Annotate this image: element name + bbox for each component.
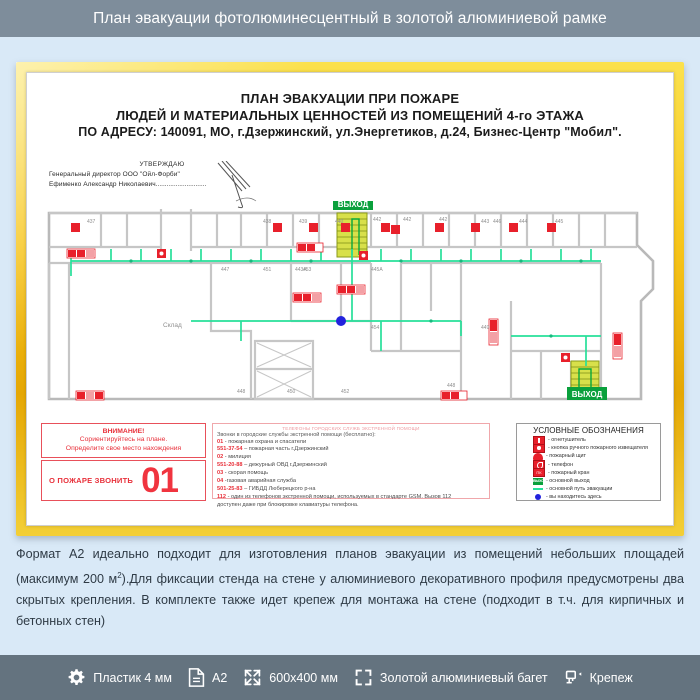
legend-item: ПК - пожарный кран [533, 469, 656, 477]
emergency-phones-box: ТЕЛЕФОНЫ ГОРОДСКИХ СЛУЖБ ЭКСТРЕННОЙ ПОМО… [212, 423, 490, 499]
route-arrows [129, 259, 582, 337]
spec-material: Пластик 4 мм [67, 668, 172, 687]
svg-text:445A: 445A [371, 267, 383, 273]
svg-text:439: 439 [299, 219, 308, 225]
legend-item: - вы находитесь здесь [533, 493, 656, 501]
spec-frame: Золотой алюминиевый багет [354, 668, 548, 687]
floor-plan-drawing: ВЫХОД ВЫХОД 437438439 440442442 44244344… [41, 201, 661, 416]
approval-dots: ............................ [156, 181, 207, 188]
legend-item: - пожарный щит [533, 452, 656, 460]
phone-item: 551-20-88 – дежурный ОВД г.Дзержинский [217, 462, 485, 470]
phone-last-line: доступен даже при блокировке клавиатуры … [217, 502, 485, 510]
exit-sign-south: ВЫХОД [567, 387, 607, 400]
phone-item: 501-25-83 – ГИБДД Люберецкого р-на [217, 486, 485, 494]
phone-desc: - скорая помощь [223, 470, 268, 476]
phone-desc: – дежурный ОВД г.Дзержинский [243, 462, 327, 468]
svg-text:442: 442 [439, 217, 448, 223]
svg-text:ВЫХОД: ВЫХОД [338, 201, 369, 209]
plan-heading-line3: ПО АДРЕСУ: 140091, МО, г.Дзержинский, ул… [27, 125, 673, 139]
phone-number: 551-20-88 [217, 462, 243, 468]
phone-desc: – пожарная часть г.Дзержинский [243, 446, 329, 452]
legend-label: - кнопка ручного пожарного извещателя [548, 445, 648, 451]
emergency-phones-subtitle: Звонки в городские службы экстренной пом… [217, 432, 485, 438]
product-description: Формат А2 идеально подходит для изготовл… [16, 544, 684, 632]
legend-item: - огнетушитель [533, 436, 656, 444]
storage-room-label: Склад [163, 322, 182, 329]
legend-label: - основной выход [546, 478, 590, 484]
legend-label: - пожарный кран [548, 470, 589, 476]
svg-text:440: 440 [335, 219, 344, 225]
attention-line2: Сориентируйтесь на плане. [42, 436, 205, 444]
phone-desc: - пожарная охрана и спасатели [223, 439, 306, 445]
plan-heading-line1: ПЛАН ЭВАКУАЦИИ ПРИ ПОЖАРЕ [27, 91, 673, 106]
svg-text:454: 454 [371, 325, 380, 331]
fire-call-label: О ПОЖАРЕ ЗВОНИТЬ [49, 476, 133, 485]
plan-info-row: ВНИМАНИЕ! Сориентируйтесь на плане. Опре… [41, 423, 661, 513]
svg-text:444: 444 [519, 219, 528, 225]
legend-label: - телефон [548, 462, 573, 468]
exit-sign-north: ВЫХОД [333, 201, 373, 210]
attention-box: ВНИМАНИЕ! Сориентируйтесь на плане. Опре… [41, 423, 206, 458]
svg-text:449: 449 [481, 325, 490, 331]
legend-box: УСЛОВНЫЕ ОБОЗНАЧЕНИЯ - огнетушитель - кн… [516, 423, 661, 501]
emergency-phones-title: ТЕЛЕФОНЫ ГОРОДСКИХ СЛУЖБ ЭКСТРЕННОЙ ПОМО… [217, 426, 485, 431]
svg-text:442: 442 [403, 217, 412, 223]
specs-footer: Пластик 4 мм A2 600х400 мм [0, 655, 700, 700]
legend-label: - огнетушитель [548, 437, 586, 443]
evacuation-route-icon [533, 486, 543, 493]
svg-text:452: 452 [341, 389, 350, 395]
spec-label: 600х400 мм [269, 671, 338, 685]
drill-icon [564, 668, 583, 687]
you-are-here-marker [336, 316, 346, 326]
plan-heading-line2: ЛЮДЕЙ И МАТЕРИАЛЬНЫХ ЦЕННОСТЕЙ ИЗ ПОМЕЩЕ… [27, 108, 673, 123]
page-root: План эвакуации фотолюминесцентный в золо… [0, 0, 700, 700]
legend-label: - основной путь эвакуации [546, 486, 612, 492]
legend-item: ВЫХОД - основной выход [533, 477, 656, 485]
svg-text:445: 445 [555, 219, 564, 225]
evacuation-route [71, 249, 601, 366]
spec-fasteners: Крепеж [564, 668, 633, 687]
approval-person-name: Ефименко Александр Николаевич [49, 181, 156, 188]
attention-title: ВНИМАНИЕ! [42, 428, 205, 436]
legend-title: УСЛОВНЫЕ ОБОЗНАЧЕНИЯ [521, 426, 656, 435]
fire-call-box: О ПОЖАРЕ ЗВОНИТЬ 01 [41, 460, 206, 501]
svg-text:448: 448 [237, 389, 246, 395]
exit-sign-icon: ВЫХОД [533, 478, 543, 485]
svg-text:446: 446 [493, 219, 502, 225]
you-are-here-icon [533, 494, 543, 501]
fire-hydrant-icon: ПК [533, 468, 545, 477]
plan-heading: ПЛАН ЭВАКУАЦИИ ПРИ ПОЖАРЕ ЛЮДЕЙ И МАТЕРИ… [27, 91, 673, 139]
phone-item: 551-37-54 – пожарная часть г.Дзержинский [217, 446, 485, 454]
phone-number: 112 [217, 494, 226, 500]
svg-text:437: 437 [87, 219, 96, 225]
svg-text:451: 451 [263, 267, 272, 273]
evacuation-plan-frame: ПЛАН ЭВАКУАЦИИ ПРИ ПОЖАРЕ ЛЮДЕЙ И МАТЕРИ… [16, 62, 684, 536]
room-number-labels: 437438439 440442442 442443444 445 443A44… [87, 217, 564, 395]
svg-text:438: 438 [263, 219, 272, 225]
phone-item: 112 - один из телефонов экстренной помощ… [217, 494, 485, 502]
spec-size: 600х400 мм [243, 668, 338, 687]
spec-label: Золотой алюминиевый багет [380, 671, 548, 685]
svg-text:442: 442 [373, 217, 382, 223]
frame-icon [354, 668, 373, 687]
manual-call-point-icon [533, 444, 545, 453]
svg-text:443: 443 [481, 219, 490, 225]
document-icon [188, 668, 205, 687]
svg-text:447: 447 [221, 267, 230, 273]
legend-label: - вы находитесь здесь [546, 494, 602, 500]
phone-desc: – ГИБДД Люберецкого р-на [243, 486, 316, 492]
spec-label: Крепеж [590, 671, 633, 685]
svg-text:ВЫХОД: ВЫХОД [572, 390, 603, 399]
spec-label: A2 [212, 671, 227, 685]
spec-label: Пластик 4 мм [93, 671, 172, 685]
fire-shield-icon [533, 453, 543, 460]
phone-item: 04 -газовая аварийная служба [217, 478, 485, 486]
attention-line3: Определите свое место нахождения [42, 445, 205, 453]
page-title: План эвакуации фотолюминесцентный в золо… [93, 10, 607, 28]
resize-icon [243, 668, 262, 687]
page-header: План эвакуации фотолюминесцентный в золо… [0, 0, 700, 37]
phone-number: 551-37-54 [217, 446, 243, 452]
phone-number: 501-25-83 [217, 486, 243, 492]
svg-text:453: 453 [303, 267, 312, 273]
phone-item: 03 - скорая помощь [217, 470, 485, 478]
plan-sheet: ПЛАН ЭВАКУАЦИИ ПРИ ПОЖАРЕ ЛЮДЕЙ И МАТЕРИ… [26, 72, 674, 526]
svg-text:450: 450 [287, 389, 296, 395]
phone-desc: - один из телефонов экстренной помощи, и… [226, 494, 451, 500]
phone-desc: -газовая аварийная служба [223, 478, 296, 484]
legend-item: - телефон [533, 461, 656, 469]
svg-text:448: 448 [447, 383, 456, 389]
legend-label: - пожарный щит [546, 453, 586, 459]
phone-desc: - милиция [223, 454, 251, 460]
fire-call-number: 01 [141, 463, 178, 498]
gear-icon [67, 668, 86, 687]
legend-item: - кнопка ручного пожарного извещателя [533, 444, 656, 452]
spec-format: A2 [188, 668, 227, 687]
legend-item: - основной путь эвакуации [533, 485, 656, 493]
